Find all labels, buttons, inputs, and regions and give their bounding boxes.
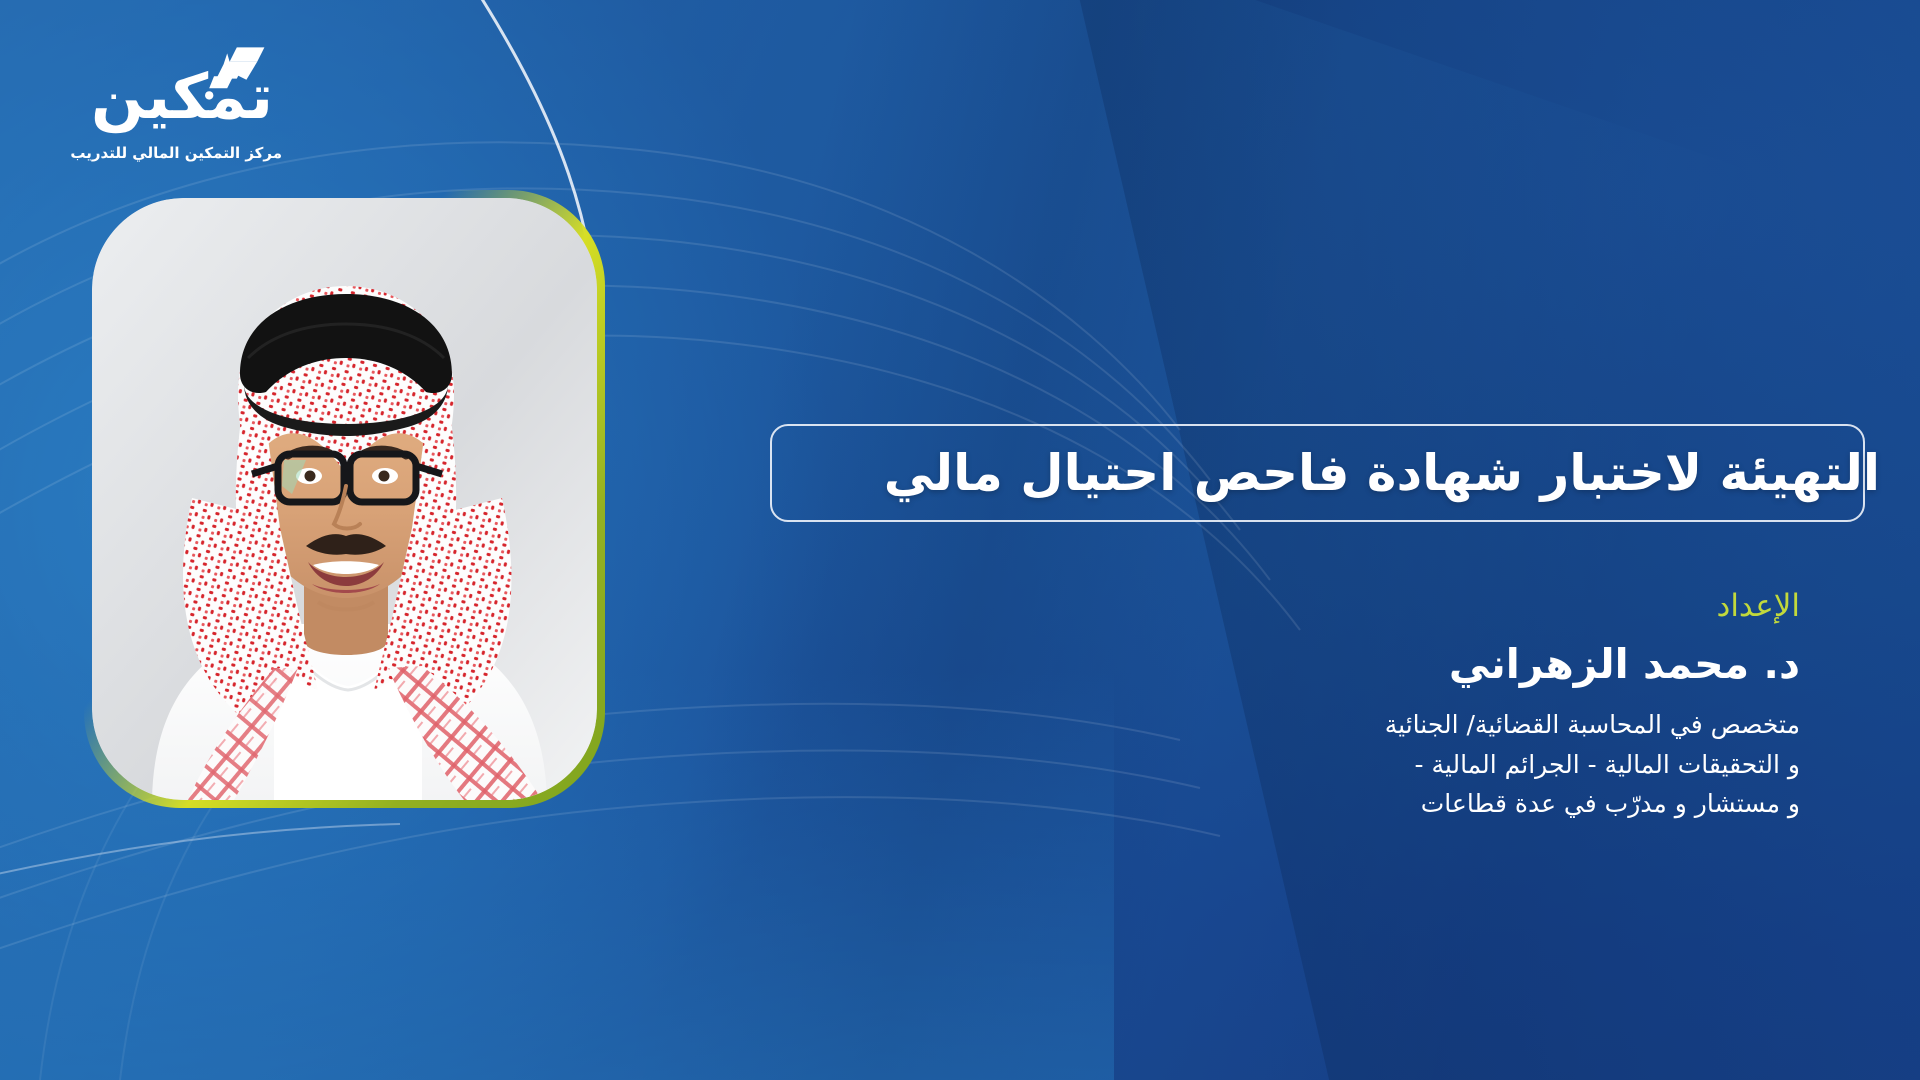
presenter-credentials: متخصص في المحاسبة القضائية/ الجنائية و ا… bbox=[710, 705, 1800, 824]
logo-wordmark: تمكين bbox=[82, 66, 282, 128]
credential-line: و التحقيقات المالية - الجرائم المالية - bbox=[710, 745, 1800, 785]
presenter-portrait bbox=[92, 198, 597, 800]
credential-line: متخصص في المحاسبة القضائية/ الجنائية bbox=[710, 705, 1800, 745]
presenter-block: الإعداد د. محمد الزهراني متخصص في المحاس… bbox=[710, 588, 1800, 824]
photo-frame bbox=[92, 198, 597, 800]
presenter-photo-card bbox=[92, 198, 597, 800]
brand-logo[interactable]: تمكين مركز التمكين المالي للتدريب bbox=[52, 44, 282, 189]
presenter-name: د. محمد الزهراني bbox=[710, 639, 1800, 689]
page-title: التهيئة لاختبار شهادة فاحص احتيال مالي bbox=[750, 404, 1880, 542]
credential-line: و مستشار و مدرّب في عدة قطاعات bbox=[710, 784, 1800, 824]
logo-subtitle: مركز التمكين المالي للتدريب bbox=[72, 144, 282, 162]
presenter-label: الإعداد bbox=[710, 588, 1800, 625]
title-slide: تمكين مركز التمكين المالي للتدريب bbox=[0, 0, 1920, 1080]
